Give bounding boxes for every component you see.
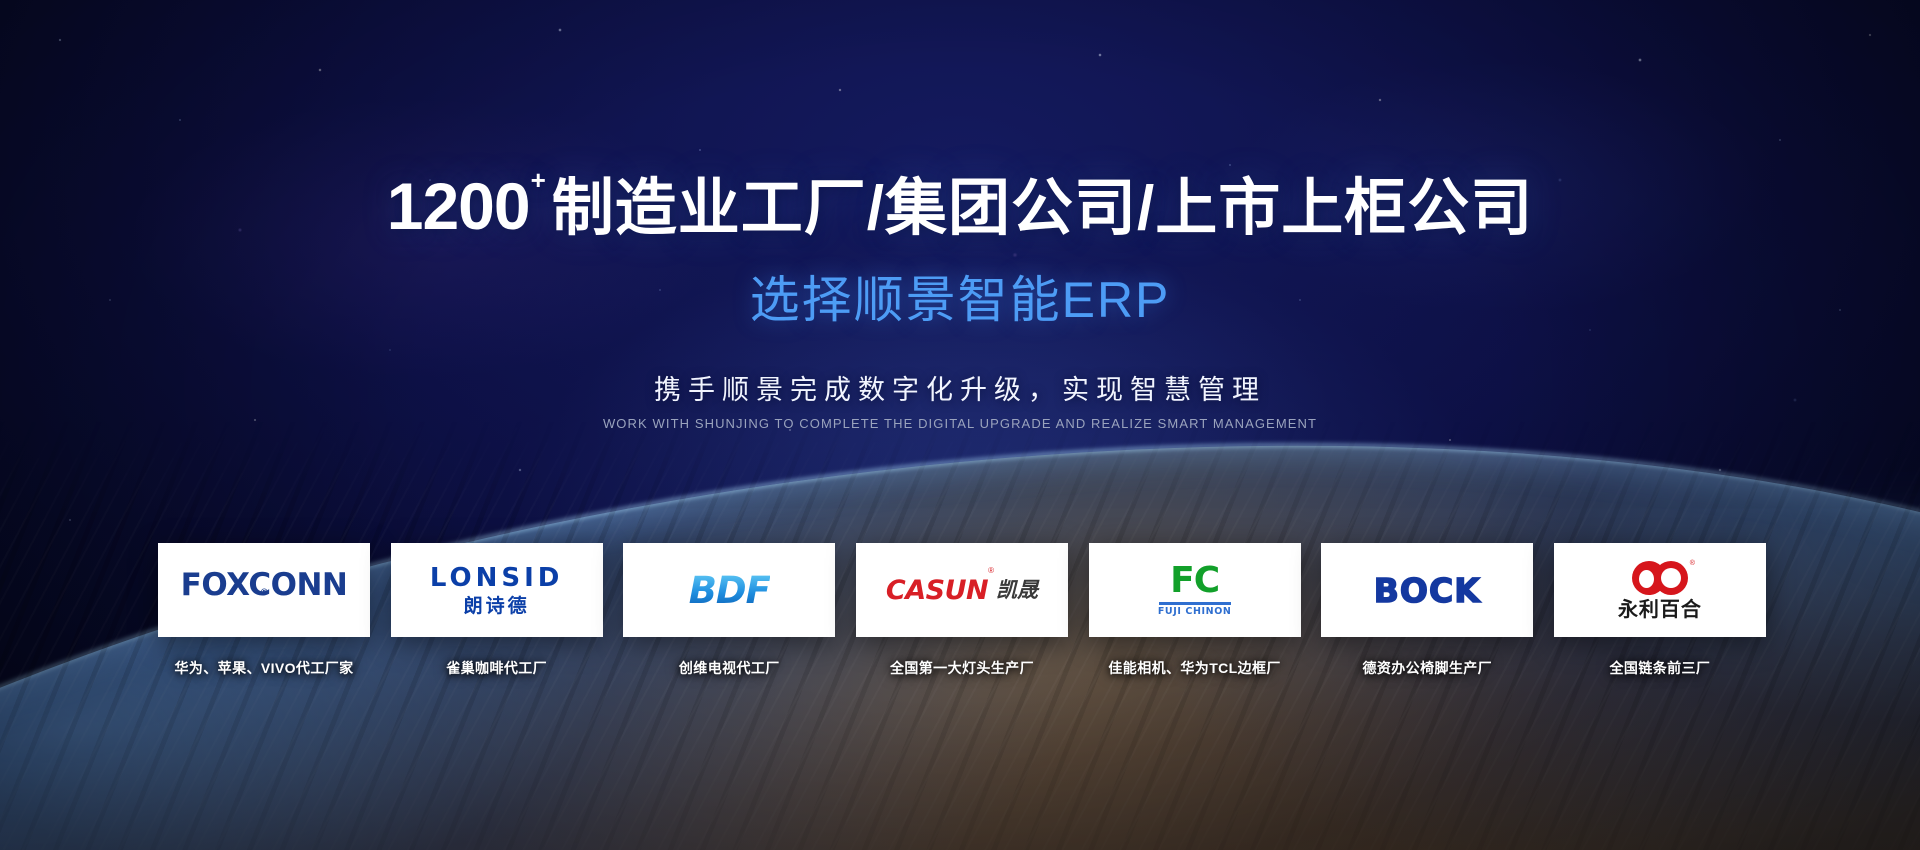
- circle-hole: [1661, 568, 1681, 588]
- logo-item-bock[interactable]: BOCK 德资办公椅脚生产厂: [1321, 543, 1533, 678]
- logo-item-foxconn[interactable]: FOXCONN® 华为、苹果、VIVO代工厂家: [158, 543, 370, 678]
- logo-item-yonglibaihe[interactable]: ® 永利百合 全国链条前三厂: [1554, 543, 1766, 678]
- foxconn-logo: FOXCONN®: [181, 570, 348, 610]
- hero-banner: 1200+制造业工厂/集团公司/上市上柜公司 选择顺景智能ERP 携手顺景完成数…: [0, 0, 1920, 850]
- headline-plus-sign: +: [531, 165, 547, 195]
- fc-wordmark: FC: [1170, 563, 1219, 599]
- circle-notch: [1639, 570, 1654, 588]
- hero-tagline-en: WORK WITH SHUNJING TO COMPLETE THE DIGIT…: [0, 416, 1920, 431]
- logo-card[interactable]: FC FUJI CHINON: [1089, 543, 1301, 637]
- casun-wordmark-cn: 凯晟: [996, 580, 1038, 601]
- client-logo-strip: FOXCONN® 华为、苹果、VIVO代工厂家 LONSID 朗诗德 雀巢咖啡代…: [158, 543, 1766, 678]
- registered-mark: ®: [988, 567, 994, 575]
- logo-card[interactable]: BDF: [623, 543, 835, 637]
- lonsid-wordmark-cn: 朗诗德: [464, 597, 530, 616]
- logo-caption: 创维电视代工厂: [623, 658, 835, 678]
- interlocking-circles-icon: ®: [1632, 561, 1688, 595]
- yonglibaihe-wordmark: 永利百合: [1618, 600, 1702, 620]
- logo-item-bdf[interactable]: BDF 创维电视代工厂: [623, 543, 835, 678]
- casun-wordmark: CASUN: [886, 577, 988, 604]
- yonglibaihe-logo: ® 永利百合: [1618, 561, 1702, 620]
- registered-mark: ®: [260, 589, 269, 598]
- bock-logo: BOCK: [1374, 574, 1481, 607]
- casun-logo: CASUN®凯晟: [886, 577, 1038, 604]
- logo-item-fuji-chinon[interactable]: FC FUJI CHINON 佳能相机、华为TCL边框厂: [1089, 543, 1301, 678]
- logo-caption: 雀巢咖啡代工厂: [391, 658, 603, 678]
- logo-caption: 全国第一大灯头生产厂: [856, 658, 1068, 678]
- logo-card[interactable]: BOCK: [1321, 543, 1533, 637]
- headline-text: 制造业工厂/集团公司/上市上柜公司: [552, 174, 1533, 243]
- lonsid-wordmark: LONSID: [430, 565, 563, 591]
- fc-divider-bar: [1159, 602, 1231, 605]
- logo-caption: 德资办公椅脚生产厂: [1321, 658, 1533, 678]
- lonsid-logo: LONSID 朗诗德: [430, 565, 563, 616]
- hero-tagline-cn: 携手顺景完成数字化升级，实现智慧管理: [0, 368, 1920, 407]
- hero-subheadline: 选择顺景智能ERP: [0, 260, 1920, 332]
- headline-number: 1200: [387, 169, 530, 243]
- logo-caption: 华为、苹果、VIVO代工厂家: [158, 658, 370, 678]
- bdf-logo: BDF: [689, 572, 770, 609]
- fc-wordmark-sub: FUJI CHINON: [1158, 607, 1232, 617]
- registered-mark: ®: [1690, 560, 1695, 567]
- logo-caption: 佳能相机、华为TCL边框厂: [1089, 658, 1301, 678]
- page-title: 1200+制造业工厂/集团公司/上市上柜公司: [0, 172, 1920, 242]
- hero-copy-block: 1200+制造业工厂/集团公司/上市上柜公司 选择顺景智能ERP 携手顺景完成数…: [0, 172, 1920, 431]
- logo-item-casun[interactable]: CASUN®凯晟 全国第一大灯头生产厂: [856, 543, 1068, 678]
- logo-card[interactable]: FOXCONN®: [158, 543, 370, 637]
- logo-card[interactable]: LONSID 朗诗德: [391, 543, 603, 637]
- logo-item-lonsid[interactable]: LONSID 朗诗德 雀巢咖啡代工厂: [391, 543, 603, 678]
- logo-card[interactable]: ® 永利百合: [1554, 543, 1766, 637]
- fuji-chinon-logo: FC FUJI CHINON: [1158, 563, 1232, 617]
- logo-caption: 全国链条前三厂: [1554, 658, 1766, 678]
- logo-card[interactable]: CASUN®凯晟: [856, 543, 1068, 637]
